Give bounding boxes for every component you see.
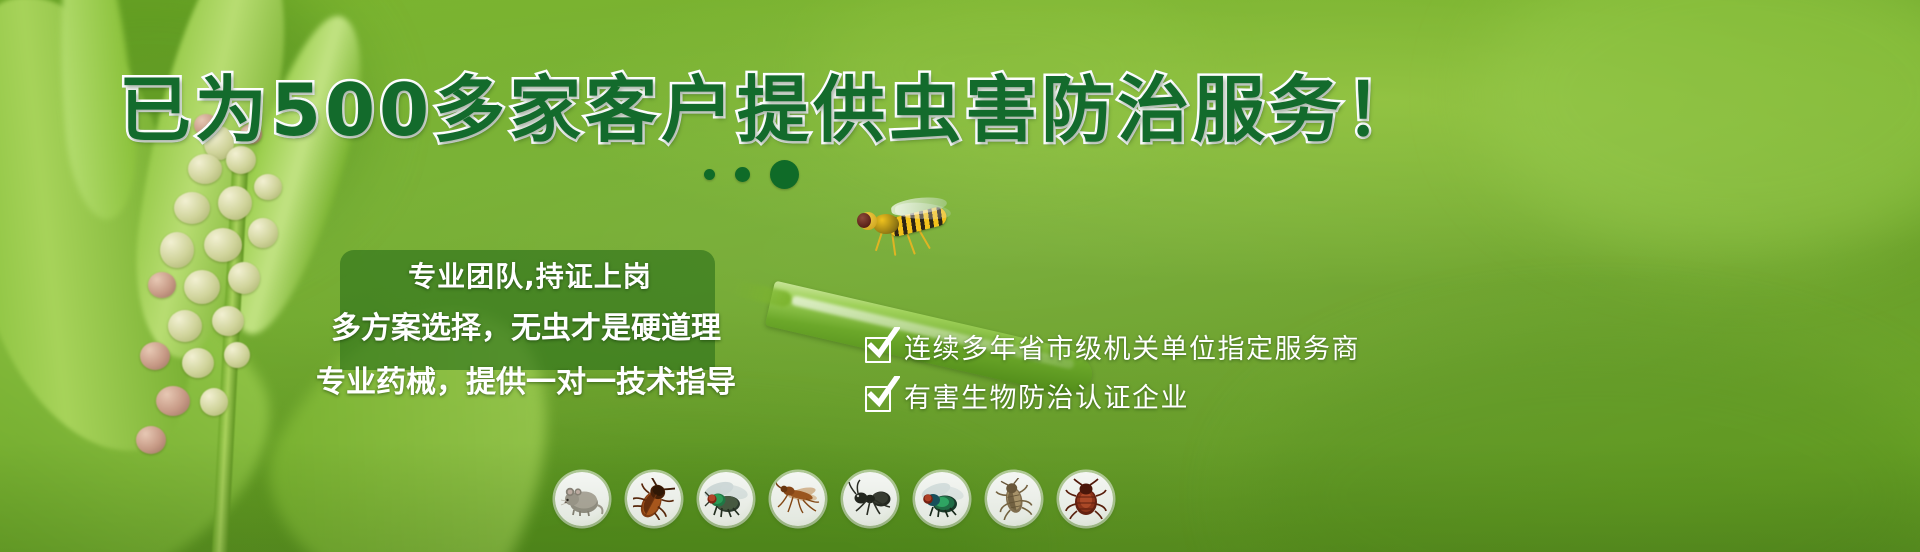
bottlefly-icon[interactable] (915, 472, 969, 526)
banner-headline-text: 已为500多家客户提供虫害防治服务！ (119, 68, 1421, 152)
checklist-item: 有害生物防治认证企业 (865, 385, 1360, 412)
slogan-line: 专业药械，提供一对一技术指导 (316, 356, 736, 410)
pest-control-hero-banner: 已为500多家客户提供虫害防治服务！ 专业团队,持证上岗 多方案选择，无虫才是硬… (0, 0, 1920, 552)
dot-small-icon (704, 169, 715, 180)
decorative-dots (704, 160, 799, 189)
flea-icon[interactable] (987, 472, 1041, 526)
pest-type-icon-row (555, 472, 1113, 526)
plant-flower-spike (130, 120, 340, 460)
slogan-line: 专业团队,持证上岗 (408, 252, 652, 302)
checkbox-checked-icon (865, 386, 891, 412)
cockroach-icon[interactable] (627, 472, 681, 526)
checklist-item-label: 连续多年省市级机关单位指定服务商 (904, 336, 1360, 363)
mouse-icon[interactable] (555, 472, 609, 526)
dot-medium-icon (735, 167, 750, 182)
banner-headline: 已为500多家客户提供虫害防治服务！ (0, 74, 1540, 146)
hover-fly-insect (855, 196, 955, 250)
checklist-item-label: 有害生物防治认证企业 (904, 385, 1189, 412)
bedbug-icon[interactable] (1059, 472, 1113, 526)
checklist-item: 连续多年省市级机关单位指定服务商 (865, 336, 1360, 363)
ant-icon[interactable] (843, 472, 897, 526)
slogan-line: 多方案选择，无虫才是硬道理 (331, 302, 721, 356)
mosquito-icon[interactable] (771, 472, 825, 526)
housefly-icon[interactable] (699, 472, 753, 526)
dot-large-icon (770, 160, 799, 189)
checkbox-checked-icon (865, 337, 891, 363)
slogan-list: 专业团队,持证上岗 多方案选择，无虫才是硬道理 专业药械，提供一对一技术指导 (340, 252, 720, 410)
credential-checklist: 连续多年省市级机关单位指定服务商 有害生物防治认证企业 (865, 336, 1360, 412)
